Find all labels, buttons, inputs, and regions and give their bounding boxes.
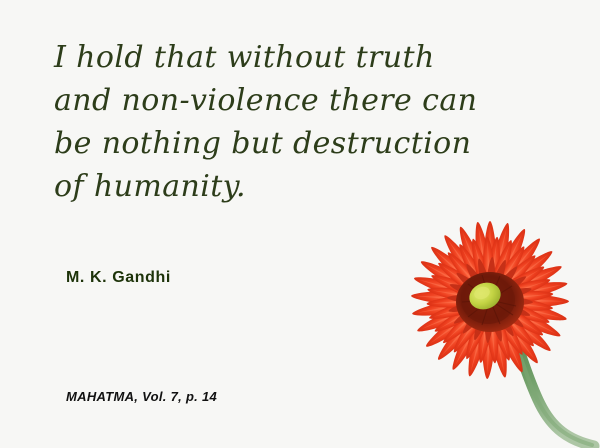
flower-head: [411, 221, 569, 379]
quote-line-4: of humanity.: [54, 165, 474, 208]
source-reference: , Vol. 7, p. 14: [134, 389, 217, 404]
quote-source: MAHATMA, Vol. 7, p. 14: [66, 389, 217, 404]
quote-line-3: be nothing but destruction: [54, 122, 474, 165]
flower-stem: [512, 332, 594, 446]
flower-petals-outer: [411, 221, 569, 379]
flower-center: [466, 278, 505, 313]
quote-author: M. K. Gandhi: [66, 269, 171, 287]
flower-disc: [456, 272, 524, 332]
quote-line-2: and non-violence there can: [54, 79, 474, 122]
quote-card: I hold that without truth and non-violen…: [0, 0, 600, 448]
red-gerbera-daisy-image: [372, 196, 600, 448]
source-title: MAHATMA: [66, 389, 134, 404]
quote-text: I hold that without truth and non-violen…: [54, 36, 474, 208]
flower-petals-inner: [447, 257, 533, 343]
quote-line-1: I hold that without truth: [54, 36, 474, 79]
flower-petals-middle: [426, 236, 554, 364]
